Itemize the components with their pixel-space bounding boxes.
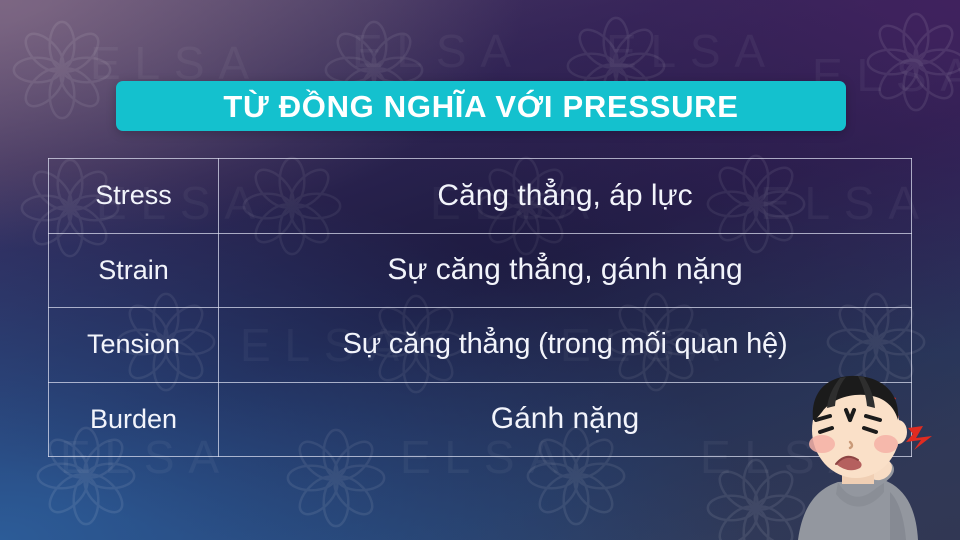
elsa-watermark: ELSA [606,24,779,78]
term-cell: Stress [49,159,219,234]
table-row: StressCăng thẳng, áp lực [49,159,912,234]
meaning-cell: Sự căng thẳng, gánh nặng [219,233,912,308]
flower-motif-icon [6,14,118,126]
term-cell: Tension [49,308,219,383]
term-cell: Strain [49,233,219,308]
meaning-cell: Gánh nặng [219,382,912,457]
sweater [798,480,918,540]
elsa-watermark: ELSA [352,24,525,78]
title-banner: TỪ ĐỒNG NGHĨA VỚI PRESSURE [116,81,846,131]
table-row: StrainSự căng thẳng, gánh nặng [49,233,912,308]
synonym-table: StressCăng thẳng, áp lựcStrainSự căng th… [48,158,912,457]
table-row: BurdenGánh nặng [49,382,912,457]
term-cell: Burden [49,382,219,457]
flower-motif-icon [700,452,812,540]
table-row: TensionSự căng thẳng (trong mối quan hệ) [49,308,912,383]
meaning-cell: Sự căng thẳng (trong mối quan hệ) [219,308,912,383]
page-title: TỪ ĐỒNG NGHĨA VỚI PRESSURE [223,91,738,122]
synonym-table-body: StressCăng thẳng, áp lựcStrainSự căng th… [49,159,912,457]
meaning-cell: Căng thẳng, áp lực [219,159,912,234]
flower-motif-icon [860,6,960,118]
slide-canvas: ELSAELSAELSAELSAELSAELSAELSAELSAELSAELSA… [0,0,960,540]
